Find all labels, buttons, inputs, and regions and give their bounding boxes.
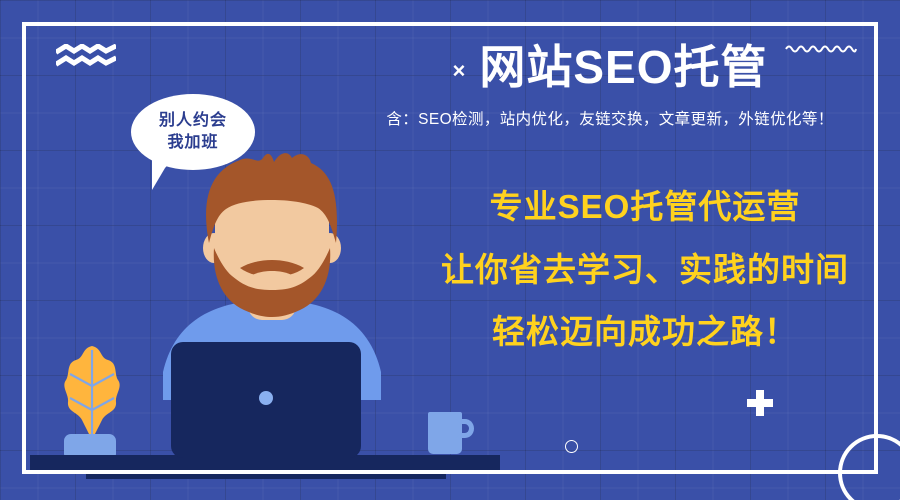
circle-outline-icon [565,440,578,453]
desk-edge [86,473,446,479]
speech-bubble-line-1: 别人约会 [159,110,227,132]
potted-plant-illustration [56,344,128,442]
plus-icon [747,390,773,416]
speech-bubble-line-2: 我加班 [167,132,218,154]
laptop-logo-dot [259,391,273,405]
coffee-mug-handle [456,419,474,438]
speech-bubble: 别人约会 我加班 [131,94,255,170]
seo-hosting-banner: × 网站SEO托管 含：SEO检测，站内优化，友链交换，文章更新，外链优化等！ … [0,0,900,500]
